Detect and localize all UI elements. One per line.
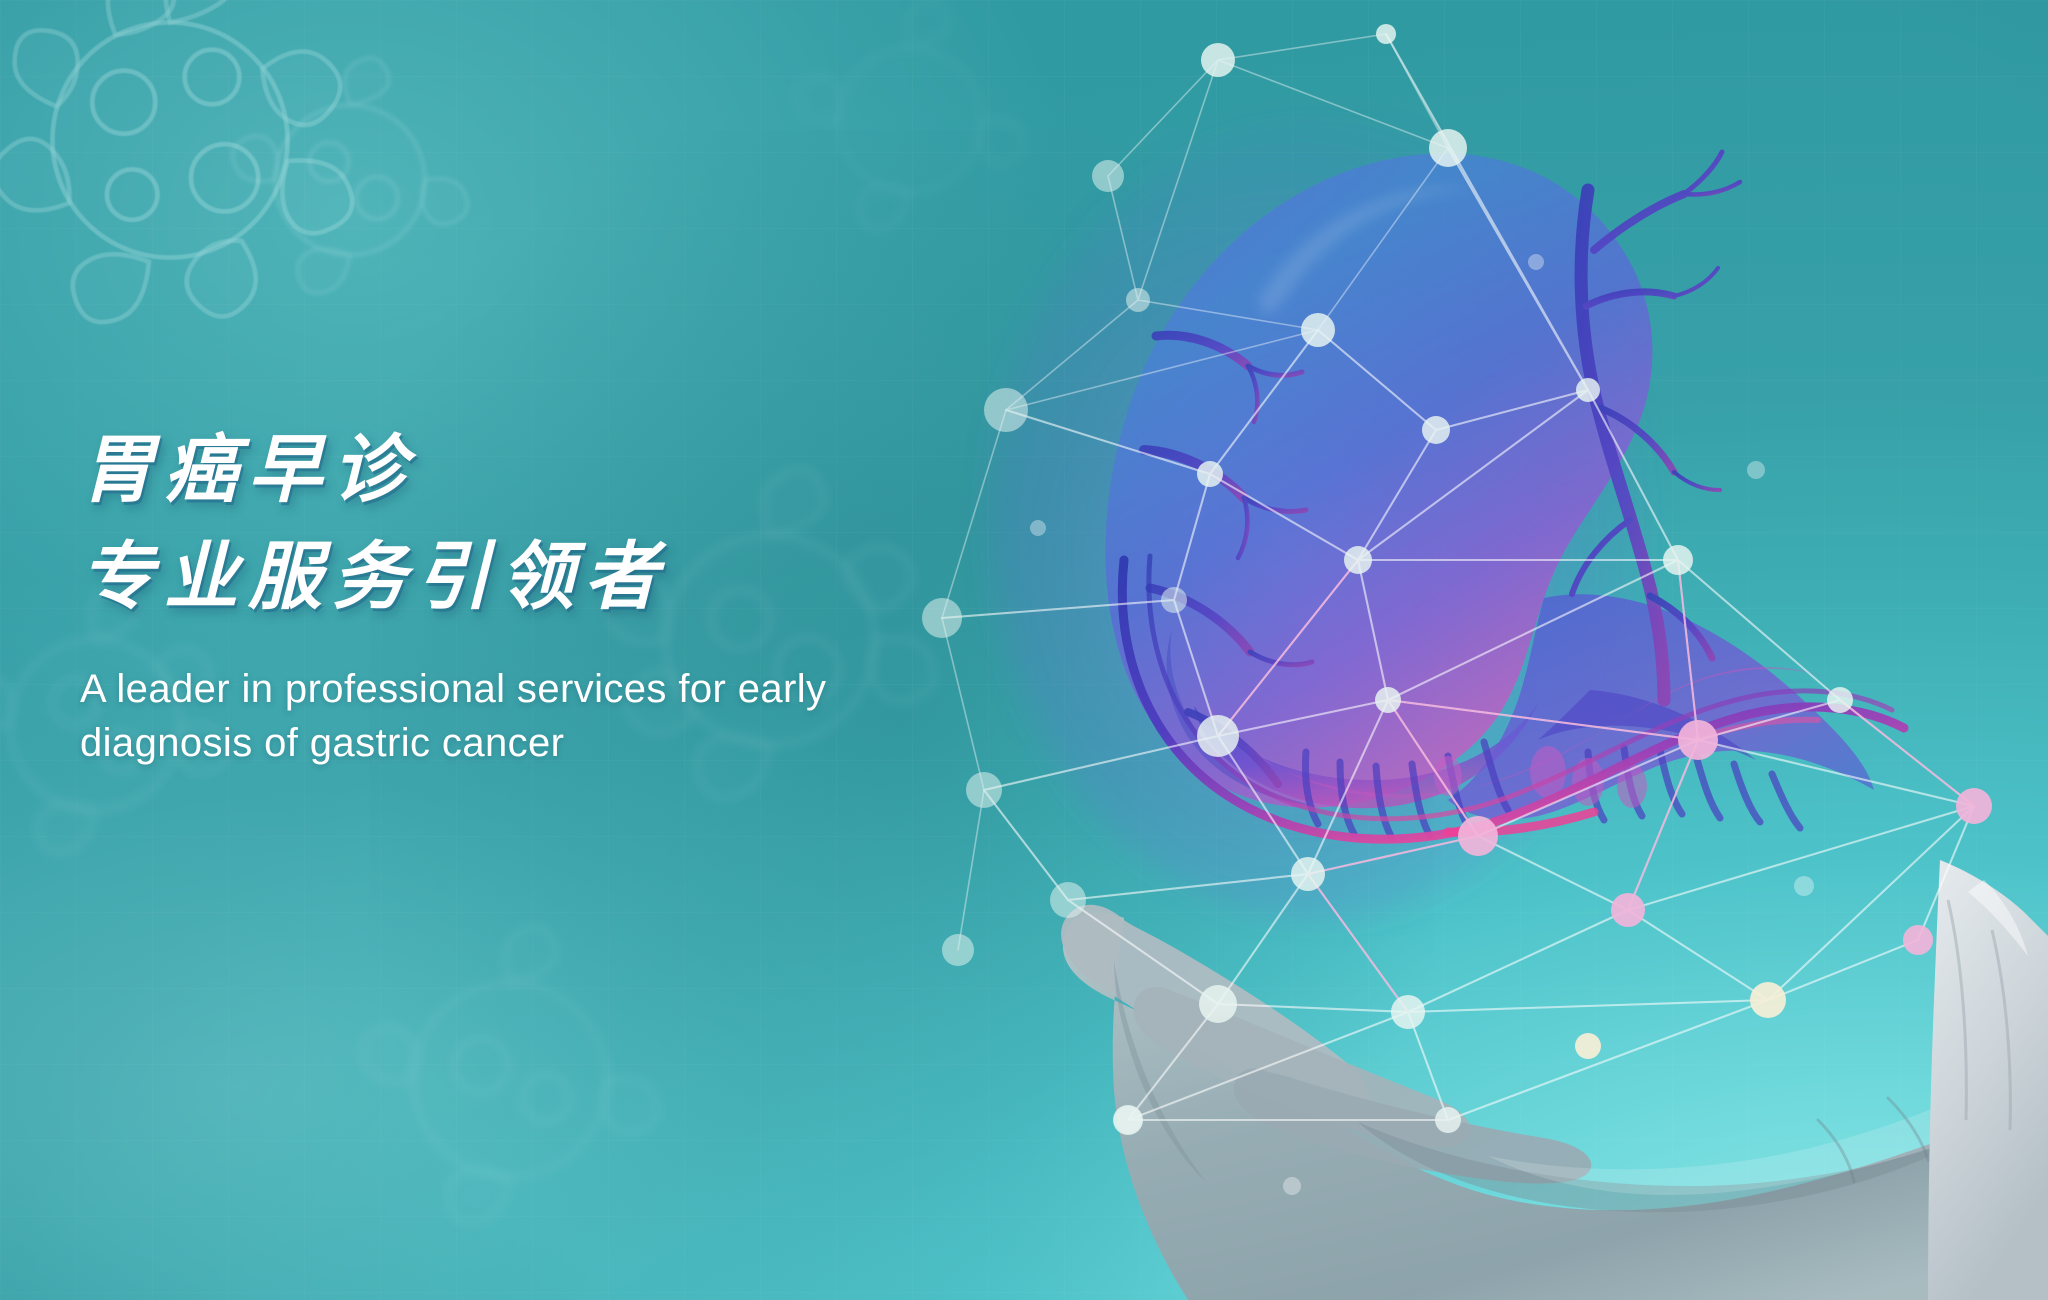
headline-block: 胃癌早诊 专业服务引领者 A leader in professional se…	[80, 420, 980, 770]
stomach-artwork	[888, 0, 2048, 1300]
lab-coat-sleeve	[1928, 860, 2048, 1300]
headline-chinese-line2: 专业服务引领者	[80, 527, 980, 628]
gastric-cancer-banner: 胃癌早诊 专业服务引领者 A leader in professional se…	[0, 0, 2048, 1300]
subtitle-english: A leader in professional services for ea…	[80, 663, 870, 770]
headline-chinese-line1: 胃癌早诊	[80, 420, 980, 521]
open-hand	[1061, 905, 2048, 1300]
